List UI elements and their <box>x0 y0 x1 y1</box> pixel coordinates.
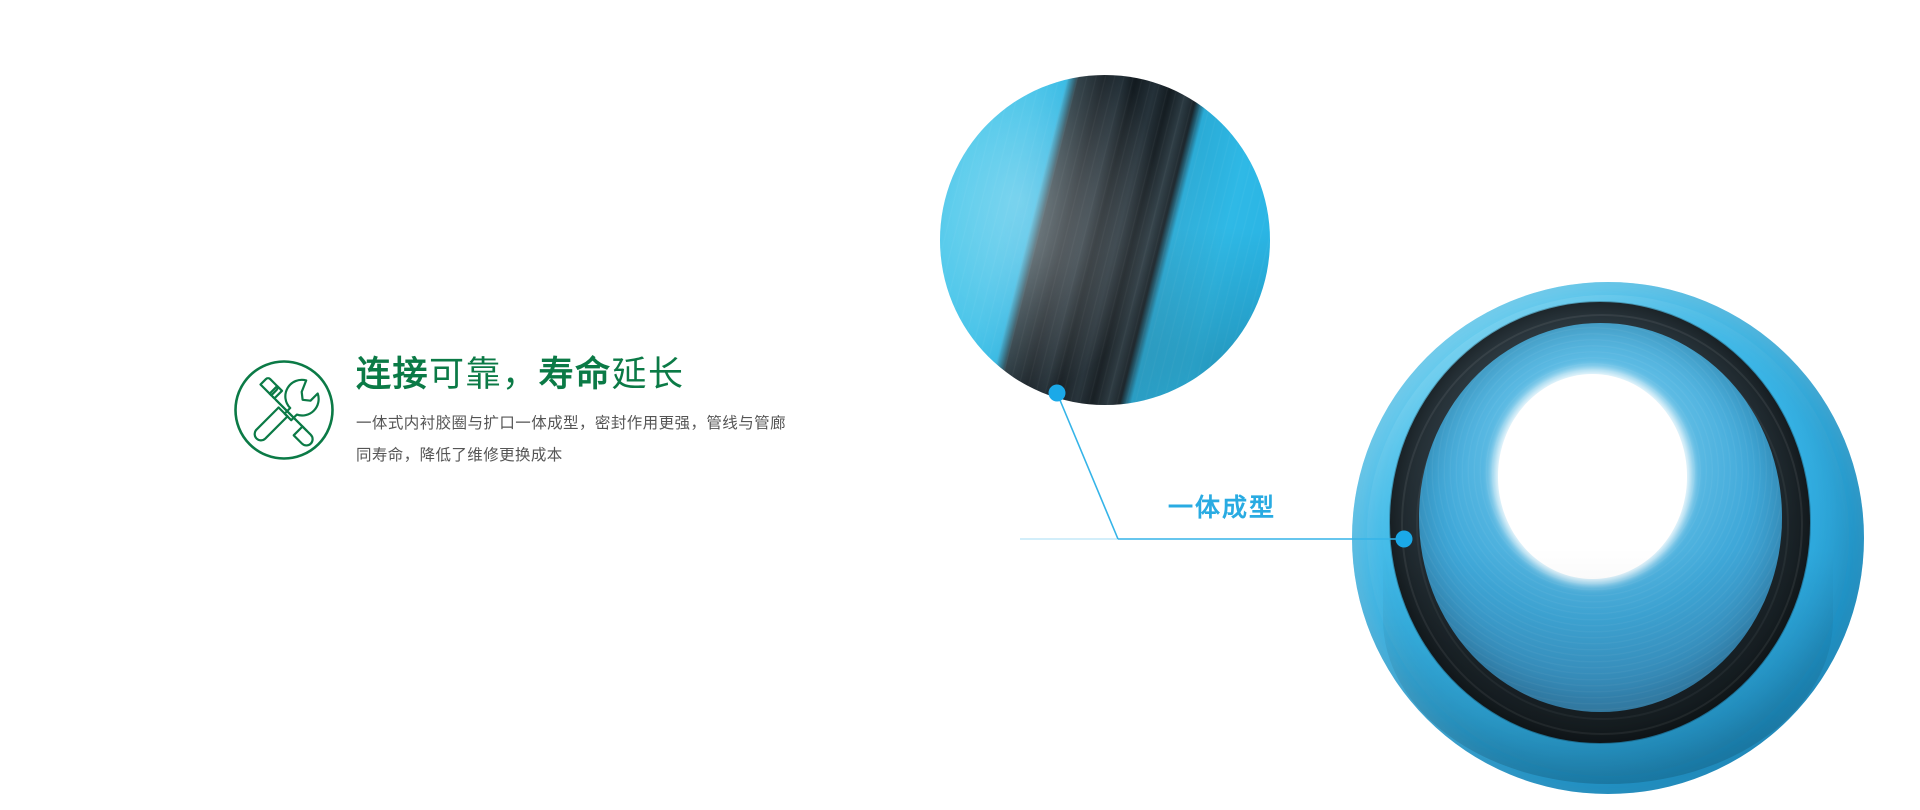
feature-title-segment-4: 延长 <box>612 355 685 394</box>
feature-title-segment-2: 可靠， <box>429 355 539 394</box>
blue-pipe-socket-photo[interactable] <box>1352 282 1864 794</box>
feature-title-segment-3: 寿命 <box>539 355 612 394</box>
feature-banner: 一体成型 <box>0 0 1920 810</box>
feature-description: 一体式内衬胶圈与扩口一体成型，密封作用更强，管线与管廊同寿命，降低了维修更换成本 <box>356 408 786 472</box>
pipe-seal-closeup-inset[interactable] <box>940 75 1270 405</box>
feature-text-block: 连接可靠，寿命延长 一体式内衬胶圈与扩口一体成型，密封作用更强，管线与管廊同寿命… <box>232 350 872 472</box>
tools-wrench-screwdriver-icon <box>232 358 336 462</box>
feature-copy: 连接可靠，寿命延长 一体式内衬胶圈与扩口一体成型，密封作用更强，管线与管廊同寿命… <box>356 350 872 472</box>
feature-title: 连接可靠，寿命延长 <box>356 354 872 395</box>
feature-title-segment-1: 连接 <box>356 355 429 394</box>
callout-label: 一体成型 <box>1168 488 1276 524</box>
leader-diagonal-segment <box>1057 393 1118 539</box>
pipe-bore-opening <box>1498 374 1687 579</box>
inset-sheen <box>940 75 1270 405</box>
